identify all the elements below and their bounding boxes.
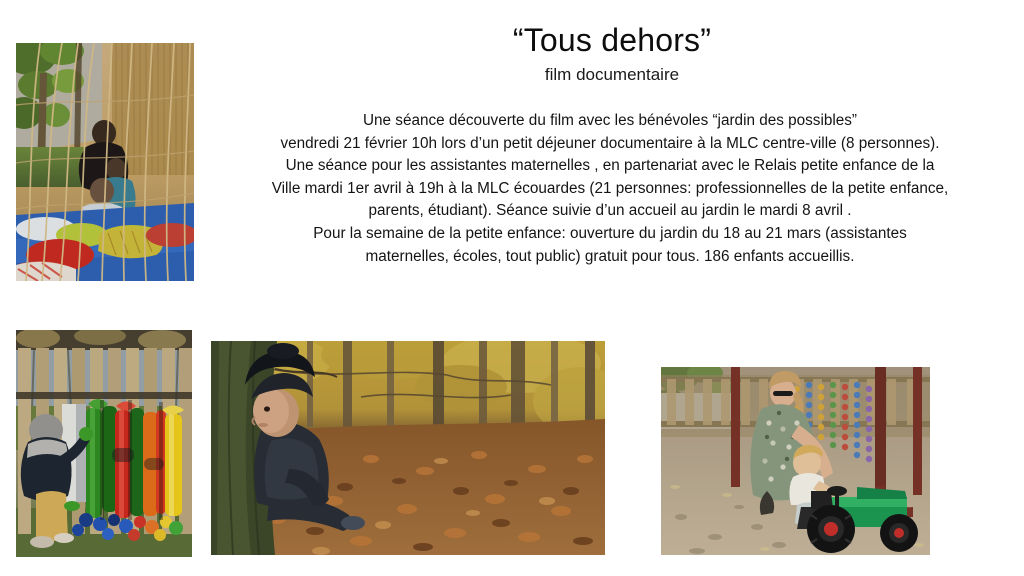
body-line-5: parents, étudiant). Séance suivie d’un a… — [196, 200, 1024, 223]
body-paragraph: Une séance découverte du film avec les b… — [196, 110, 1024, 268]
page-title: “Tous dehors” — [200, 20, 1024, 60]
photo-child-autumn-forest — [211, 341, 605, 555]
body-line-1: Une séance découverte du film avec les b… — [196, 110, 1024, 133]
photo-colored-tubes-fence — [16, 330, 192, 557]
page-subtitle: film documentaire — [200, 63, 1024, 87]
body-line-4: Ville mardi 1er avril à 19h à la MLC éco… — [196, 178, 1024, 201]
body-line-6: Pour la semaine de la petite enfance: ou… — [196, 223, 1024, 246]
body-line-7: maternelles, écoles, tout public) gratui… — [196, 246, 1024, 269]
body-line-2: vendredi 21 février 10h lors d’un petit … — [196, 133, 1024, 156]
photo-willow-hut-artwork — [16, 43, 194, 281]
photo-autumn-forest-artwork — [211, 341, 605, 555]
body-line-3: Une séance pour les assistantes maternel… — [196, 155, 1024, 178]
photo-toy-tractor-artwork — [661, 367, 930, 555]
photo-toy-tractor-playground — [661, 367, 930, 555]
slide-canvas: “Tous dehors” film documentaire Une séan… — [0, 0, 1024, 576]
photo-colored-tubes-artwork — [16, 330, 192, 557]
photo-willow-hut — [16, 43, 194, 281]
